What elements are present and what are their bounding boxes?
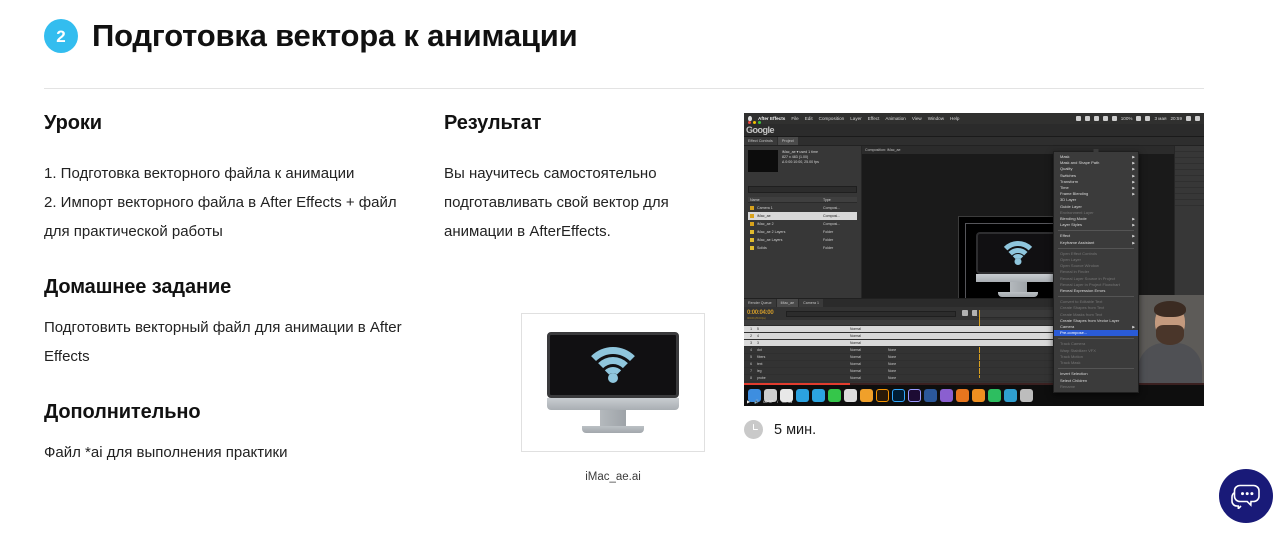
menu-animation[interactable]: Animation <box>885 116 905 121</box>
battery-percent: 100% <box>1121 116 1133 121</box>
dock-word-icon[interactable] <box>924 389 937 402</box>
battery-icon[interactable] <box>1136 116 1141 121</box>
comp-swatch-icon <box>750 222 754 226</box>
menu-view[interactable]: View <box>912 116 922 121</box>
layer-mode[interactable]: Normal <box>850 348 888 352</box>
dock-photoshop-icon[interactable] <box>892 389 905 402</box>
attachment-preview[interactable] <box>521 313 705 452</box>
menu-edit[interactable]: Edit <box>805 116 813 121</box>
tab-render-queue[interactable]: Render Queue <box>744 299 776 307</box>
imac-wifi-icon <box>547 332 679 433</box>
layer-mode[interactable]: Normal <box>850 355 888 359</box>
menu-window[interactable]: Window <box>928 116 944 121</box>
project-search-input[interactable] <box>748 186 857 193</box>
project-row-type: Composi... <box>823 206 857 210</box>
folder-icon <box>750 246 754 250</box>
result-text: Вы научитесь самостоятельно подготавлива… <box>444 159 714 246</box>
layer-index: 7 <box>744 369 754 373</box>
folder-icon <box>750 238 754 242</box>
play-icon[interactable]: ▶ <box>747 399 750 404</box>
layer-mode[interactable]: Normal <box>850 369 888 373</box>
menu-app-name[interactable]: After Effects <box>758 116 785 121</box>
layer-index: 4 <box>744 348 754 352</box>
lessons-heading: Уроки <box>44 112 404 135</box>
google-watermark: Google <box>746 125 774 135</box>
menu-composition[interactable]: Composition <box>819 116 845 121</box>
menu-item-reveal-expression-errors[interactable]: Reveal Expression Errors <box>1054 288 1138 294</box>
layer-index: 8 <box>744 376 754 380</box>
dock-row[interactable] <box>1175 200 1204 206</box>
page-header: 2 Подготовка вектора к анимации <box>44 18 577 54</box>
project-row-type: Composi... <box>823 214 857 218</box>
layer-index: 3 <box>744 341 754 345</box>
project-row-name: Camera 1 <box>757 206 820 210</box>
col-type[interactable]: Type <box>823 198 857 202</box>
project-row-type: Folder <box>823 238 857 242</box>
project-row-name: iMac_ae Layers <box>757 238 820 242</box>
presenter-body <box>1138 343 1202 383</box>
dock-evernote-icon[interactable] <box>988 389 1001 402</box>
lesson-page: 2 Подготовка вектора к анимации Уроки 1.… <box>0 0 1279 535</box>
flag-icon[interactable] <box>1145 116 1150 121</box>
menu-help[interactable]: Help <box>950 116 959 121</box>
menu-layer[interactable]: Layer <box>850 116 862 121</box>
layer-index: 5 <box>744 355 754 359</box>
layer-mode[interactable]: Normal <box>850 334 888 338</box>
menu-effect[interactable]: Effect <box>868 116 880 121</box>
panel-tab-strip: Effect Controls Project <box>744 137 1204 146</box>
layer-name: 3 <box>754 341 806 345</box>
project-row[interactable]: iMac_ae 2 Composi... <box>748 220 857 228</box>
spotlight-icon[interactable] <box>1186 116 1191 121</box>
tab-timeline-camera[interactable]: Camera 1 <box>799 299 823 307</box>
total-time: 05:35 <box>782 399 792 404</box>
project-column-headers: Name Type <box>748 197 857 203</box>
project-row-type: Folder <box>823 230 857 234</box>
presenter-hair <box>1154 301 1186 317</box>
layer-name: leg <box>754 369 806 373</box>
page-title: Подготовка вектора к анимации <box>92 18 577 54</box>
comp-swatch-icon <box>750 206 754 210</box>
submenu-arrow-icon: ▶ <box>1132 222 1135 228</box>
volume-icon[interactable]: 🔊 <box>754 399 759 404</box>
project-row-name: Solids <box>757 246 820 250</box>
dock-skype-icon[interactable] <box>796 389 809 402</box>
video-frame: After Effects File Edit Composition Laye… <box>744 113 1204 406</box>
dock-mail-icon[interactable] <box>844 389 857 402</box>
notification-center-icon[interactable] <box>1195 116 1200 121</box>
attachment-card[interactable]: iMac_ae.ai <box>521 313 705 483</box>
chat-bubble-icon <box>1231 483 1261 509</box>
menu-file[interactable]: File <box>791 116 798 121</box>
menu-separator <box>1058 338 1134 339</box>
volume-status-icon[interactable] <box>1112 116 1117 121</box>
dock-telegram-icon[interactable] <box>812 389 825 402</box>
dock-finder2-icon[interactable] <box>1004 389 1017 402</box>
project-row-name: iMac_ae 2 Layers <box>757 230 820 234</box>
comp-swatch-icon <box>750 214 754 218</box>
col-name[interactable]: Name <box>748 198 823 202</box>
dock-whatsapp-icon[interactable] <box>828 389 841 402</box>
tab-composition[interactable]: Composition: iMac_ae <box>865 148 901 152</box>
layer-name: 4 <box>754 334 806 338</box>
elapsed-time: 00:37 <box>763 399 773 404</box>
presenter-webcam <box>1135 295 1204 383</box>
extra-text: Файл *ai для выполнения практики <box>44 438 404 467</box>
project-thumbnail <box>748 150 778 172</box>
project-meta: iMac_ae ▾ used 1 time 827 x 483 (1.00) Δ… <box>782 150 819 165</box>
menu-item-keyframe-assistant[interactable]: Keyframe Assistant▶ <box>1054 240 1138 246</box>
menubar-status-area: 100% 3 мая 20:59 <box>1076 116 1200 121</box>
display-icon[interactable] <box>1076 116 1081 121</box>
layer-name: dot <box>754 348 806 352</box>
motion-blur-icon[interactable] <box>962 310 968 316</box>
project-row-type: Composi... <box>823 222 857 226</box>
layer-name: 5 <box>754 327 806 331</box>
submenu-arrow-icon: ▶ <box>1132 240 1135 246</box>
layer-mode[interactable]: Normal <box>850 376 888 380</box>
homework-heading: Домашнее задание <box>44 276 404 299</box>
menu-separator <box>1058 368 1134 369</box>
traffic-lights <box>748 121 761 124</box>
layer-index: 1 <box>744 327 754 331</box>
menubar-time: 20:59 <box>1171 116 1183 121</box>
folder-icon <box>750 230 754 234</box>
tab-timeline-imac[interactable]: iMac_ae <box>777 299 799 307</box>
project-meta-line-3: Δ 0:00:10:00, 25.00 fps <box>782 160 819 165</box>
result-heading: Результат <box>444 112 714 135</box>
layer-trkmat[interactable]: None <box>888 362 922 366</box>
project-row[interactable]: iMac_ae 2 Layers Folder <box>748 228 857 236</box>
layer-name: text <box>754 362 806 366</box>
layer-mode[interactable]: Normal <box>850 341 888 345</box>
dock-firefox-icon[interactable] <box>956 389 969 402</box>
project-row[interactable]: Camera 1 Composi... <box>748 204 857 212</box>
menu-separator <box>1058 230 1134 231</box>
layer-trkmat[interactable]: None <box>888 376 922 380</box>
menu-item-track-mask: Track Mask <box>1054 360 1138 366</box>
project-row-type: Folder <box>823 246 857 250</box>
dock-vlc-icon[interactable] <box>972 389 985 402</box>
layer-index: 2 <box>744 334 754 338</box>
clock-icon <box>744 420 763 439</box>
layer-trkmat[interactable]: None <box>888 355 922 359</box>
attachment-caption: iMac_ae.ai <box>521 471 705 483</box>
submenu-arrow-icon: ▶ <box>1132 191 1135 197</box>
lesson-item-1: 1. Подготовка векторного файла к анимаци… <box>44 159 404 188</box>
menu-separator <box>1058 296 1134 297</box>
step-number-badge: 2 <box>44 19 78 53</box>
project-row[interactable]: iMac_ae Composi... <box>748 212 857 220</box>
chat-widget-button[interactable] <box>1219 469 1273 523</box>
wifi-status-icon[interactable] <box>1103 116 1108 121</box>
tab-project[interactable]: Project <box>778 137 798 145</box>
menu-item-layer-styles[interactable]: Layer Styles▶ <box>1054 222 1138 228</box>
menu-item-rename: Rename <box>1054 384 1138 390</box>
layer-dropdown-menu[interactable]: Mask▶ Mask and Shape Path▶ Quality▶ Swit… <box>1053 151 1139 393</box>
dock-trash-icon[interactable] <box>1020 389 1033 402</box>
timeline-search-input[interactable] <box>786 311 956 317</box>
dock-illustrator-icon[interactable] <box>876 389 889 402</box>
current-time-display[interactable]: 0:00:04:00 00100 (25.00 fps) <box>747 310 773 320</box>
lesson-item-2: 2. Импорт векторного файла в After Effec… <box>44 188 404 246</box>
menu-separator <box>1058 248 1134 249</box>
time-separator: / <box>777 399 778 404</box>
layer-trkmat[interactable]: None <box>888 369 922 373</box>
layer-index: 6 <box>744 362 754 366</box>
dropbox-icon[interactable] <box>1085 116 1090 121</box>
extra-heading: Дополнительно <box>44 401 404 424</box>
submenu-arrow-icon: ▶ <box>1132 324 1135 330</box>
dock-preview-icon[interactable] <box>940 389 953 402</box>
menubar-date: 3 мая <box>1154 116 1166 121</box>
project-row[interactable]: iMac_ae Layers Folder <box>748 236 857 244</box>
player-controls[interactable]: ▶ 🔊 00:37 / 05:35 <box>747 399 792 404</box>
mac-menu-bar: After Effects File Edit Composition Laye… <box>744 113 1204 124</box>
layer-mode[interactable]: Normal <box>850 327 888 331</box>
layer-name: fibers <box>754 355 806 359</box>
layer-mode[interactable]: Normal <box>850 362 888 366</box>
menu-nub <box>1094 149 1099 152</box>
tab-effect-controls[interactable]: Effect Controls <box>744 137 777 145</box>
project-item-list: Camera 1 Composi... iMac_ae Composi... i… <box>748 204 857 252</box>
bluetooth-icon[interactable] <box>1094 116 1099 121</box>
project-row-name: iMac_ae 2 <box>757 222 820 226</box>
dock-sketch-icon[interactable] <box>860 389 873 402</box>
header-divider <box>44 88 1204 89</box>
left-column: Уроки 1. Подготовка векторного файла к а… <box>44 112 404 467</box>
layer-trkmat[interactable]: None <box>888 348 922 352</box>
video-player[interactable]: After Effects File Edit Composition Laye… <box>744 113 1204 406</box>
ae-toolbar[interactable] <box>744 124 1204 137</box>
menu-item-pre-compose[interactable]: Pre-compose... <box>1054 330 1138 336</box>
middle-column: Результат Вы научитесь самостоятельно по… <box>444 112 714 246</box>
homework-text: Подготовить векторный файл для анимации … <box>44 313 404 371</box>
duration-label: 5 мин. <box>774 422 816 438</box>
project-row[interactable]: Solids Folder <box>748 244 857 252</box>
presenter-beard <box>1156 325 1184 345</box>
layer-name: probe <box>754 376 806 380</box>
imac-wifi-icon <box>976 232 1060 297</box>
video-duration: 5 мин. <box>744 420 816 439</box>
project-row-name: iMac_ae <box>757 214 820 218</box>
dock-after-effects-icon[interactable] <box>908 389 921 402</box>
